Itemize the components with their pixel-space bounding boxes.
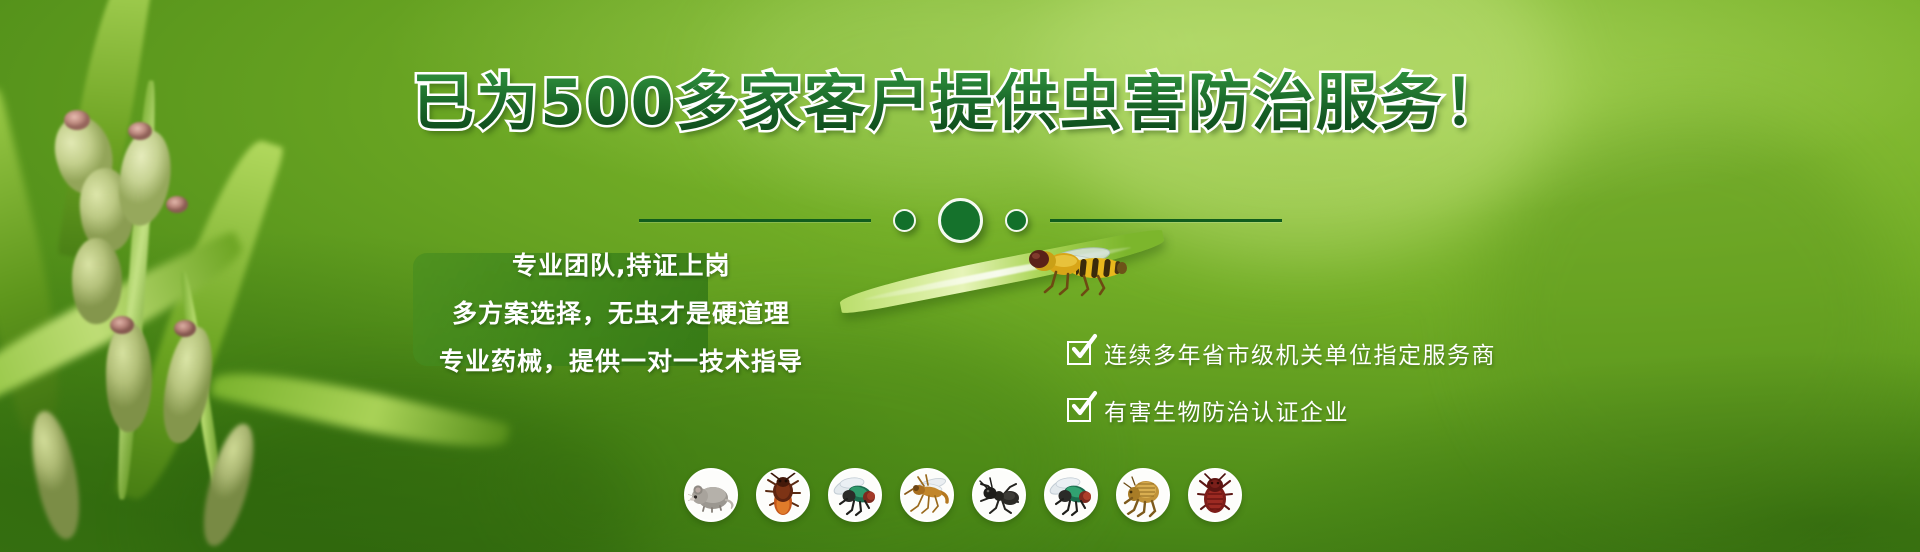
credential-item: 有害生物防治认证企业 bbox=[1067, 393, 1496, 427]
checkbox-checked-icon bbox=[1067, 398, 1091, 422]
hoverfly-illustration bbox=[1012, 244, 1130, 298]
fly-icon bbox=[832, 472, 878, 518]
ant-icon bbox=[976, 472, 1022, 518]
flea-icon bbox=[1120, 472, 1166, 518]
credential-label: 有害生物防治认证企业 bbox=[1104, 393, 1349, 427]
pest-control-hero-banner: 已为500多家客户提供虫害防治服务！ 已为500多家客户提供虫害防治服务！ 专业… bbox=[0, 0, 1920, 552]
separator-dot-small-right bbox=[1005, 209, 1028, 232]
separator-line-right bbox=[1050, 219, 1282, 222]
separator-dot-large bbox=[938, 198, 983, 243]
credential-label: 连续多年省市级机关单位指定服务商 bbox=[1104, 336, 1496, 370]
pest-chip-blowfly[interactable] bbox=[1044, 468, 1098, 522]
separator-dot-small-left bbox=[893, 209, 916, 232]
mosquito-icon bbox=[904, 472, 950, 518]
pest-chip-fly[interactable] bbox=[828, 468, 882, 522]
credential-item: 连续多年省市级机关单位指定服务商 bbox=[1067, 336, 1496, 370]
promise-panel: 专业团队,持证上岗 多方案选择，无虫才是硬道理 专业药械，提供一对一技术指导 bbox=[413, 248, 833, 376]
decorative-separator bbox=[0, 198, 1920, 243]
credentials-list: 连续多年省市级机关单位指定服务商 有害生物防治认证企业 bbox=[1067, 336, 1496, 427]
cockroach-icon bbox=[760, 472, 806, 518]
pest-chip-cockroach[interactable] bbox=[756, 468, 810, 522]
mouse-icon bbox=[688, 472, 734, 518]
pest-chip-mosquito[interactable] bbox=[900, 468, 954, 522]
checkbox-checked-icon bbox=[1067, 341, 1091, 365]
promise-line-1: 专业团队,持证上岗 bbox=[419, 246, 833, 282]
pest-chip-bedbug[interactable] bbox=[1188, 468, 1242, 522]
bedbug-icon bbox=[1192, 472, 1238, 518]
pest-chip-ant[interactable] bbox=[972, 468, 1026, 522]
pest-type-icon-row bbox=[684, 468, 1242, 522]
pest-chip-mouse[interactable] bbox=[684, 468, 738, 522]
promise-line-2: 多方案选择，无虫才是硬道理 bbox=[419, 294, 833, 330]
blowfly-icon bbox=[1048, 472, 1094, 518]
promise-line-3: 专业药械，提供一对一技术指导 bbox=[419, 342, 833, 378]
separator-line-left bbox=[639, 219, 871, 222]
pest-chip-flea[interactable] bbox=[1116, 468, 1170, 522]
